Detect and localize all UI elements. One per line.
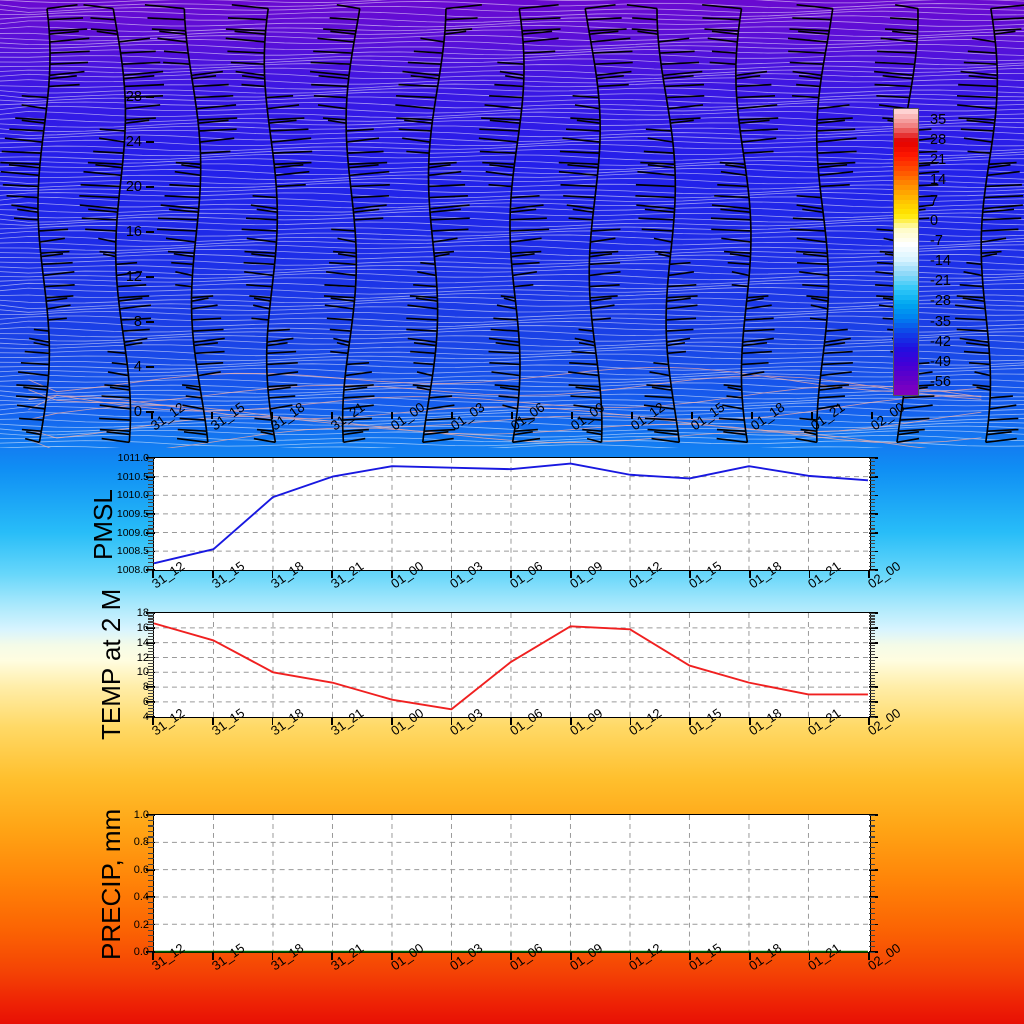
pmsl-y-tick-minor [869, 528, 875, 529]
temp-y-tick-minor [869, 708, 875, 709]
precip-y-tick-minor [148, 864, 154, 865]
cross-section-x-tickmark [271, 412, 273, 419]
temp-y-tick-minor [869, 702, 875, 703]
precip-y-tick-minor [869, 924, 875, 925]
pmsl-y-tick-minor [869, 487, 875, 488]
pmsl-y-tick-minor [148, 472, 154, 473]
pmsl-y-tick-minor [869, 562, 875, 563]
colorbar-tick-label: -35 [930, 314, 951, 330]
cross-section-x-tickmark [511, 412, 513, 419]
pmsl-y-tick-minor [148, 499, 154, 500]
pmsl-y-tick-minor [148, 547, 154, 548]
pmsl-y-tick-minor [148, 562, 154, 563]
temp-y-tick-minor [148, 663, 154, 664]
temp-y-tick-minor [869, 675, 875, 676]
pmsl-y-tick-minor [148, 540, 154, 541]
pmsl-y-tick-minor [148, 461, 154, 462]
precip-y-tick-minor [869, 919, 875, 920]
temp-y-tick-minor [869, 711, 875, 712]
temp-y-tick-minor [869, 627, 875, 628]
pmsl-y-tick-minor [869, 491, 875, 492]
temp-y-tick-minor [148, 630, 154, 631]
pmsl-y-tick-minor [148, 506, 154, 507]
temp-y-tick-minor [148, 690, 154, 691]
temp-y-tick-minor [148, 714, 154, 715]
cross-section-y-tick: 16 [108, 224, 142, 240]
temp-y-tick-minor [869, 621, 875, 622]
temp-y-tick-minor [869, 651, 875, 652]
temp-y-tick-minor [869, 633, 875, 634]
temp-y-tick-minor [148, 648, 154, 649]
pmsl-y-tick-minor [148, 458, 154, 459]
temp-y-tick-minor [869, 657, 875, 658]
pmsl-y-tick-minor [869, 570, 875, 571]
precip-y-tick-minor [869, 847, 875, 848]
precip-y-tick-minor [869, 836, 875, 837]
colorbar-tick-label: -28 [930, 293, 951, 309]
temp-y-tick-minor [148, 613, 154, 614]
temp-y-tick-minor [148, 624, 154, 625]
colorbar-tick-label: 14 [930, 172, 946, 188]
temp-y-tick-minor [148, 711, 154, 712]
cross-section-y-tickmark [146, 231, 154, 233]
precip-y-tick-minor [869, 946, 875, 947]
precip-y-tick-minor [869, 869, 875, 870]
cross-section-y-tick: 4 [108, 359, 142, 375]
pmsl-y-tick-minor [148, 491, 154, 492]
temp-y-tick-minor [869, 705, 875, 706]
pmsl-y-tick-minor [869, 499, 875, 500]
temp-y-tick-minor [148, 705, 154, 706]
precip-y-tick-minor [869, 825, 875, 826]
pmsl-y-tick-minor [869, 517, 875, 518]
pmsl-y-tick-minor [869, 551, 875, 552]
precip-y-tick-minor [148, 815, 154, 816]
temp-y-tick-minor [148, 669, 154, 670]
temp-y-tick-minor [148, 702, 154, 703]
pmsl-y-tick-minor [148, 528, 154, 529]
cross-section-y-tickmark [146, 321, 154, 323]
colorbar-band [894, 390, 918, 395]
precip-y-tick-minor [148, 930, 154, 931]
cross-section-x-tickmark [631, 412, 633, 419]
temp-y-tick-minor [148, 621, 154, 622]
cross-section-y-tick: 28 [108, 89, 142, 105]
temp-y-tick-minor [148, 639, 154, 640]
precip-y-tick-minor [869, 891, 875, 892]
pmsl-y-tick-minor [148, 555, 154, 556]
precip-y-tick-minor [148, 935, 154, 936]
temp-y-tick-minor [148, 681, 154, 682]
pmsl-y-tick: 1008.5 [95, 545, 149, 557]
colorbar-tick-label: -56 [930, 374, 951, 390]
pmsl-y-tick-minor [869, 458, 875, 459]
pmsl-y-tick-minor [869, 536, 875, 537]
pmsl-y-tick-minor [869, 510, 875, 511]
temp-y-tick-minor [148, 633, 154, 634]
pmsl-y-tick: 1010.5 [95, 471, 149, 483]
pmsl-y-tick-minor [148, 502, 154, 503]
pmsl-y-tick-minor [148, 536, 154, 537]
precip-panel [153, 814, 871, 953]
cross-section-y-tickmark [146, 96, 154, 98]
pmsl-y-tick-minor [869, 532, 875, 533]
temp-y-tick: 10 [95, 666, 149, 678]
temp-y-tick-minor [869, 714, 875, 715]
colorbar-tick-label: 0 [930, 213, 938, 229]
precip-y-tick-minor [148, 836, 154, 837]
temp-y-tick-minor [148, 684, 154, 685]
pmsl-y-tick-minor [148, 517, 154, 518]
temp-y-tick-minor [869, 624, 875, 625]
temp-y-tick-minor [148, 642, 154, 643]
cross-section-x-tickmark [391, 412, 393, 419]
pmsl-panel [153, 457, 871, 571]
pmsl-y-tick-minor [869, 506, 875, 507]
temp-y-tick-minor [148, 636, 154, 637]
temp-y-tick-minor [148, 678, 154, 679]
pmsl-y-tick-minor [869, 465, 875, 466]
temp-y-tick-minor [869, 645, 875, 646]
pmsl-y-tick: 1008.0 [95, 564, 149, 576]
temp-y-tick-minor [869, 684, 875, 685]
cross-section-y-tick: 0 [108, 404, 142, 420]
precip-y-tick-minor [148, 858, 154, 859]
pmsl-y-tick-minor [148, 469, 154, 470]
wind-barbs-overlay [0, 0, 720, 315]
pmsl-y-tick-minor [869, 484, 875, 485]
temp-panel [153, 612, 871, 718]
precip-y-tick-minor [869, 853, 875, 854]
pmsl-y-tick-minor [148, 514, 154, 515]
precip-axis-label: PRECIP, mm [96, 809, 127, 960]
precip-y-tick-minor [148, 847, 154, 848]
precip-y-tick-minor [148, 842, 154, 843]
temp-y-tick-minor [148, 708, 154, 709]
pmsl-y-tick-minor [869, 469, 875, 470]
temp-y-tick-minor [869, 630, 875, 631]
pmsl-y-tick-minor [148, 543, 154, 544]
precip-y-tick-minor [148, 908, 154, 909]
temp-y-tick-minor [869, 687, 875, 688]
precip-y-tick: 0.2 [95, 919, 149, 931]
colorbar-tick-label: -7 [930, 233, 943, 249]
precip-y-tick-minor [148, 891, 154, 892]
pmsl-y-tick-minor [869, 472, 875, 473]
temp-y-tick: 12 [95, 652, 149, 664]
temp-y-tick: 4 [95, 711, 149, 723]
pmsl-y-tick: 1011.0 [95, 452, 149, 464]
precip-y-tick-minor [869, 820, 875, 821]
pmsl-y-tick-minor [869, 540, 875, 541]
pmsl-y-tick-minor [148, 495, 154, 496]
temp-y-tick-minor [869, 672, 875, 673]
precip-y-tick-minor [869, 875, 875, 876]
cross-section-y-tick: 24 [108, 134, 142, 150]
precip-y-tick-minor [148, 913, 154, 914]
precip-y-tick: 0.8 [95, 836, 149, 848]
colorbar-tick-label: 35 [930, 112, 946, 128]
pmsl-y-tick-minor [869, 521, 875, 522]
temp-y-tick-minor [869, 654, 875, 655]
temp-y-tick-minor [869, 696, 875, 697]
cross-section-x-tickmark [691, 412, 693, 419]
temp-y-tick-minor [869, 717, 875, 718]
cross-section-x-tickmark [571, 412, 573, 419]
precip-y-tick: 1.0 [95, 809, 149, 821]
pmsl-y-tick-minor [148, 465, 154, 466]
precip-y-tick-minor [148, 853, 154, 854]
pmsl-y-tick-minor [148, 476, 154, 477]
pmsl-y-tick-minor [869, 476, 875, 477]
temp-y-tick: 8 [95, 681, 149, 693]
colorbar-tick-label: -42 [930, 334, 951, 350]
temp-y-tick-minor [148, 660, 154, 661]
precip-y-tick-minor [148, 820, 154, 821]
pmsl-y-tick-minor [148, 525, 154, 526]
precip-y-tick-minor [148, 880, 154, 881]
precip-y-tick-minor [869, 864, 875, 865]
pmsl-y-tick-minor [148, 510, 154, 511]
temp-y-tick-minor [148, 693, 154, 694]
temp-y-tick-minor [869, 699, 875, 700]
precip-y-tick: 0.6 [95, 864, 149, 876]
cross-section-x-tickmark [211, 412, 213, 419]
precip-y-tick-minor [869, 913, 875, 914]
temp-y-tick-minor [869, 660, 875, 661]
precip-y-tick-minor [148, 924, 154, 925]
cross-section-y-tickmark [146, 141, 154, 143]
precip-y-tick-minor [869, 897, 875, 898]
temp-y-tick-minor [869, 663, 875, 664]
temp-y-tick-minor [869, 618, 875, 619]
temp-y-tick-minor [148, 675, 154, 676]
precip-y-tick-minor [869, 952, 875, 953]
temp-y-tick-minor [148, 615, 154, 616]
temp-y-tick-minor [148, 672, 154, 673]
temp-y-tick-minor [148, 657, 154, 658]
precip-y-tick-minor [148, 919, 154, 920]
colorbar-tick-label: 28 [930, 132, 946, 148]
temp-y-tick-minor [148, 618, 154, 619]
pmsl-y-tick-minor [869, 480, 875, 481]
precip-y-tick-minor [869, 908, 875, 909]
precip-y-tick-minor [869, 902, 875, 903]
pmsl-y-tick-minor [869, 502, 875, 503]
pmsl-y-tick-minor [869, 566, 875, 567]
pmsl-y-tick-minor [148, 558, 154, 559]
cross-section-x-tickmark [451, 412, 453, 419]
pmsl-y-tick-minor [148, 480, 154, 481]
precip-y-tick-minor [869, 930, 875, 931]
pmsl-y-tick-minor [869, 558, 875, 559]
temp-y-tick-minor [869, 693, 875, 694]
precip-y-tick-minor [148, 902, 154, 903]
temp-y-tick-minor [869, 615, 875, 616]
temp-y-tick-minor [869, 642, 875, 643]
temp-y-tick-minor [869, 690, 875, 691]
pmsl-y-tick-minor [148, 532, 154, 533]
temp-y-tick: 14 [95, 637, 149, 649]
cross-section-x-tickmark [331, 412, 333, 419]
pmsl-y-tick-minor [869, 547, 875, 548]
pmsl-y-tick-minor [148, 566, 154, 567]
precip-y-tick-minor [869, 842, 875, 843]
pmsl-y-tick: 1010.0 [95, 489, 149, 501]
temp-y-tick-minor [869, 669, 875, 670]
pmsl-y-tick-minor [869, 514, 875, 515]
temp-y-tick: 16 [95, 622, 149, 634]
pmsl-y-tick-minor [869, 495, 875, 496]
precip-y-tick-minor [869, 941, 875, 942]
temp-y-tick-minor [148, 699, 154, 700]
precip-y-tick-minor [869, 831, 875, 832]
temp-y-tick-minor [148, 687, 154, 688]
pmsl-y-tick-minor [148, 521, 154, 522]
cross-section-x-tickmark [751, 412, 753, 419]
temp-y-tick-minor [869, 681, 875, 682]
colorbar-tick-label: 21 [930, 152, 946, 168]
cross-section-y-tickmark [146, 186, 154, 188]
precip-y-tick-minor [869, 886, 875, 887]
precip-y-tick-minor [148, 941, 154, 942]
pmsl-y-tick-minor [148, 484, 154, 485]
cross-section-x-tickmark [871, 412, 873, 419]
cross-section-y-tickmark [146, 366, 154, 368]
cross-section-y-tick: 20 [108, 179, 142, 195]
pmsl-y-tick-minor [148, 487, 154, 488]
temp-y-tick-minor [148, 654, 154, 655]
colorbar-tick-label: -14 [930, 253, 951, 269]
temp-y-tick-minor [148, 627, 154, 628]
temp-y-tick: 18 [95, 607, 149, 619]
precip-y-tick-minor [148, 825, 154, 826]
temp-y-tick-minor [869, 678, 875, 679]
temp-y-tick-minor [148, 645, 154, 646]
precip-y-tick-minor [148, 875, 154, 876]
cross-section-x-tickmark [151, 412, 153, 419]
temp-y-tick-minor [148, 651, 154, 652]
temp-y-tick-minor [869, 639, 875, 640]
pmsl-y-tick-minor [869, 461, 875, 462]
precip-y-tick-minor [869, 815, 875, 816]
precip-y-tick-minor [148, 831, 154, 832]
precip-y-tick: 0.4 [95, 891, 149, 903]
precip-y-tick-minor [869, 935, 875, 936]
colorbar [893, 108, 919, 396]
pmsl-y-tick-minor [869, 555, 875, 556]
precip-y-tick: 0.0 [95, 946, 149, 958]
pmsl-y-tick-minor [869, 525, 875, 526]
precip-y-tick-minor [148, 946, 154, 947]
temp-y-tick-minor [869, 648, 875, 649]
precip-y-tick-minor [869, 858, 875, 859]
cross-section-y-tick: 8 [108, 314, 142, 330]
precip-y-tick-minor [148, 897, 154, 898]
colorbar-tick-label: -49 [930, 354, 951, 370]
cross-section-panel [0, 0, 720, 315]
colorbar-tick-label: -21 [930, 273, 951, 289]
precip-y-tick-minor [869, 880, 875, 881]
pmsl-y-tick-minor [869, 543, 875, 544]
pmsl-y-tick-minor [148, 551, 154, 552]
temp-y-tick-minor [869, 636, 875, 637]
pmsl-y-tick: 1009.0 [95, 527, 149, 539]
cross-section-y-tickmark [146, 276, 154, 278]
temp-y-tick: 6 [95, 696, 149, 708]
temp-y-tick-minor [869, 666, 875, 667]
pmsl-y-tick: 1009.5 [95, 508, 149, 520]
cross-section-x-tickmark [811, 412, 813, 419]
temp-y-tick-minor [148, 666, 154, 667]
cross-section-y-tick: 12 [108, 269, 142, 285]
precip-y-tick-minor [148, 869, 154, 870]
temp-y-tick-minor [869, 613, 875, 614]
colorbar-tick-label: 7 [930, 193, 938, 209]
temp-y-tick-minor [148, 696, 154, 697]
precip-y-tick-minor [148, 886, 154, 887]
